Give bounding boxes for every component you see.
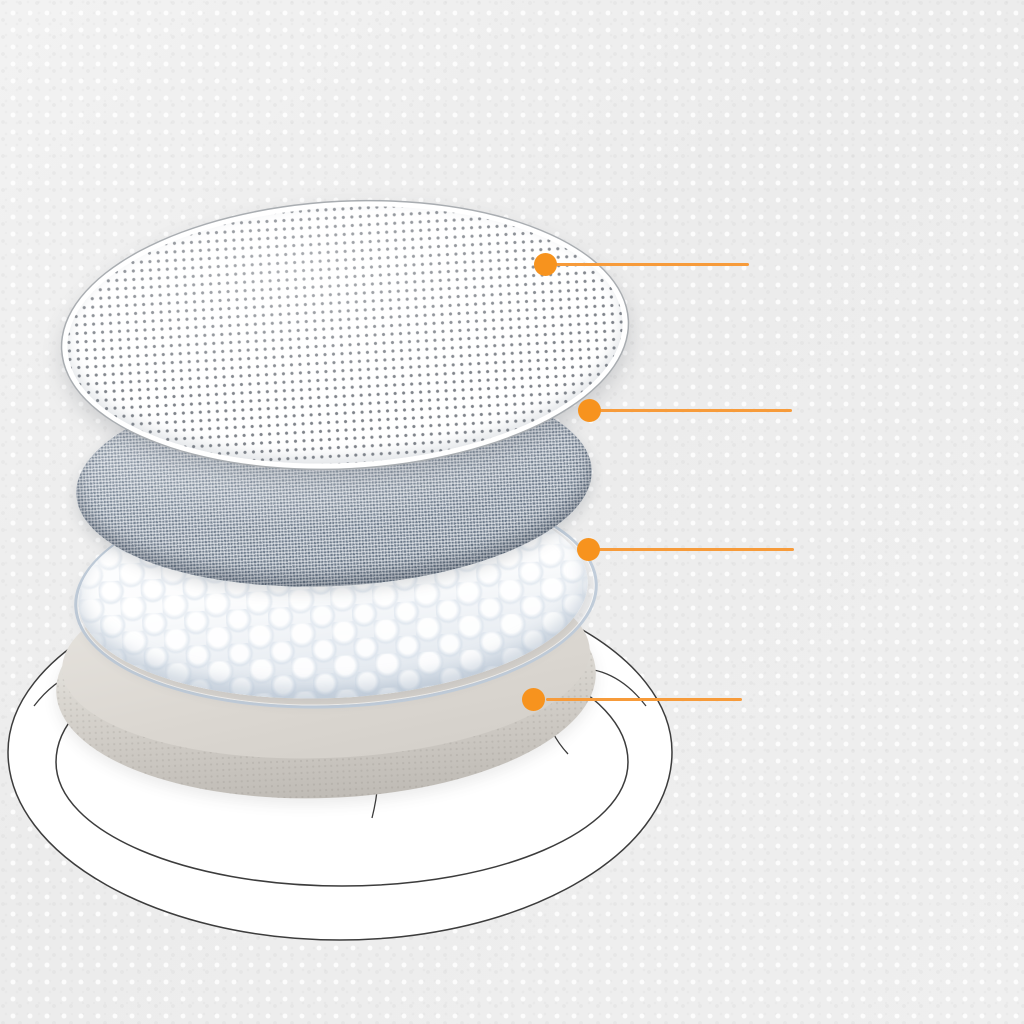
marker-dot-cotton[interactable] — [578, 399, 601, 422]
exploded-layer-stack — [0, 0, 1024, 1024]
marker-dot-pp[interactable] — [522, 688, 545, 711]
layer-tpu-composite — [55, 187, 634, 482]
leader-line-pp — [546, 698, 742, 701]
marker-dot-tpu[interactable] — [534, 253, 557, 276]
leader-line-cotton — [594, 409, 792, 412]
leader-line-silk — [594, 548, 794, 551]
product-layer-infographic: TPU Composite layer soft waterproof pad … — [0, 0, 1024, 1024]
leader-line-tpu — [547, 263, 749, 266]
marker-dot-silk[interactable] — [577, 538, 600, 561]
